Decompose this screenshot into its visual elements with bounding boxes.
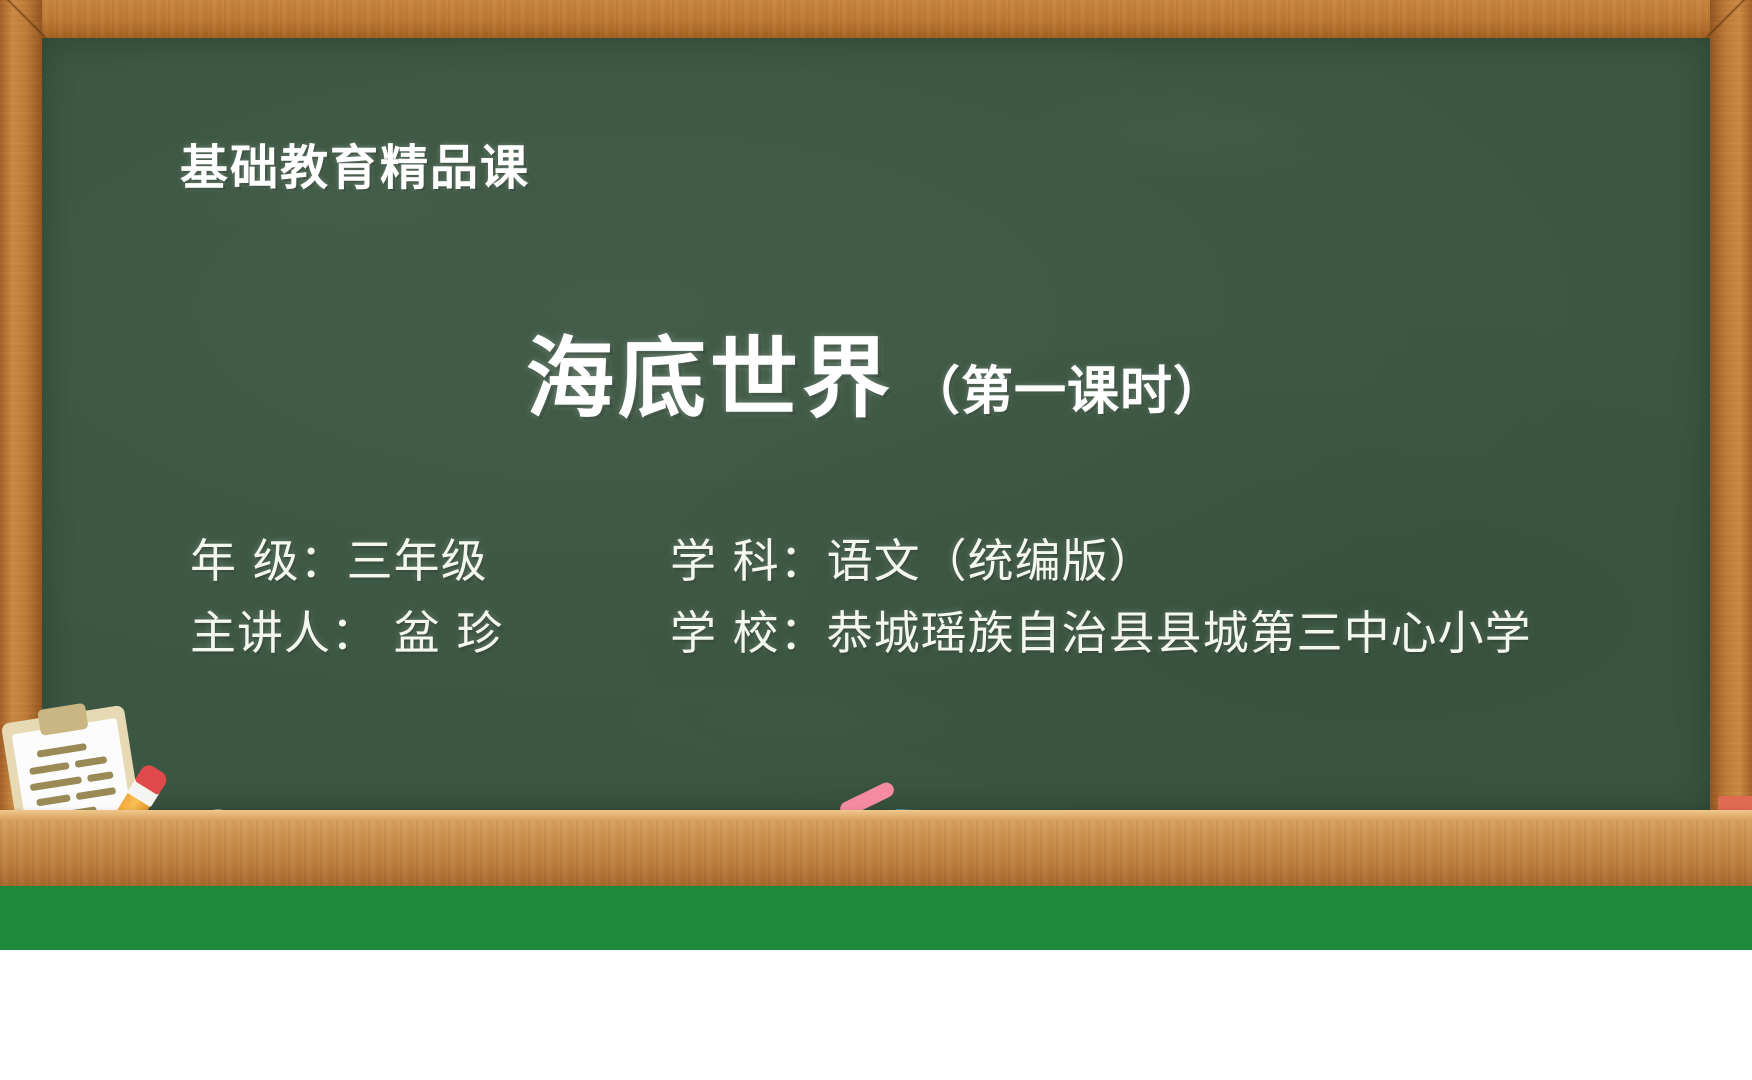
slide-title-block: 海底世界（第一课时）	[42, 308, 1710, 435]
clipboard-text-line	[75, 756, 108, 768]
slide-stage: 基础教育精品课 海底世界（第一课时） 年 级：三年级 学 科：语文（统编版） 主…	[0, 0, 1752, 1080]
lesson-period-label: （第一课时）	[908, 363, 1226, 421]
ledge-lip	[0, 810, 1752, 820]
clipboard-text-line	[29, 762, 70, 775]
presenter-field: 主讲人： 盆 珍	[152, 597, 670, 663]
bottom-white-area	[0, 950, 1752, 1080]
chalkboard-wooden-frame: 基础教育精品课 海底世界（第一课时） 年 级：三年级 学 科：语文（统编版） 主…	[0, 0, 1752, 848]
chalkboard-ledge	[0, 810, 1752, 886]
metadata-row: 主讲人： 盆 珍 学 校：恭城瑶族自治县县城第三中心小学	[152, 597, 1710, 669]
program-kicker-text: 基础教育精品课	[180, 128, 530, 198]
school-field: 学 校：恭城瑶族自治县县城第三中心小学	[670, 597, 1710, 663]
lesson-title: 海底世界	[526, 329, 894, 428]
clipboard-text-line	[37, 743, 87, 758]
grade-field: 年 级：三年级	[152, 525, 670, 591]
frame-rail-right	[1710, 0, 1752, 848]
clipboard-text-line	[30, 776, 82, 791]
bottom-green-bar	[0, 886, 1752, 950]
clipboard-text-line	[87, 771, 114, 782]
clipboard-text-line	[76, 787, 117, 800]
chalkboard-surface: 基础教育精品课 海底世界（第一课时） 年 级：三年级 学 科：语文（统编版） 主…	[42, 38, 1710, 810]
lesson-metadata-block: 年 级：三年级 学 科：语文（统编版） 主讲人： 盆 珍 学 校：恭城瑶族自治县…	[152, 525, 1710, 669]
metadata-row: 年 级：三年级 学 科：语文（统编版）	[152, 525, 1710, 597]
clipboard-text-line	[36, 794, 71, 806]
frame-rail-top	[0, 0, 1752, 38]
subject-field: 学 科：语文（统编版）	[670, 525, 1710, 591]
